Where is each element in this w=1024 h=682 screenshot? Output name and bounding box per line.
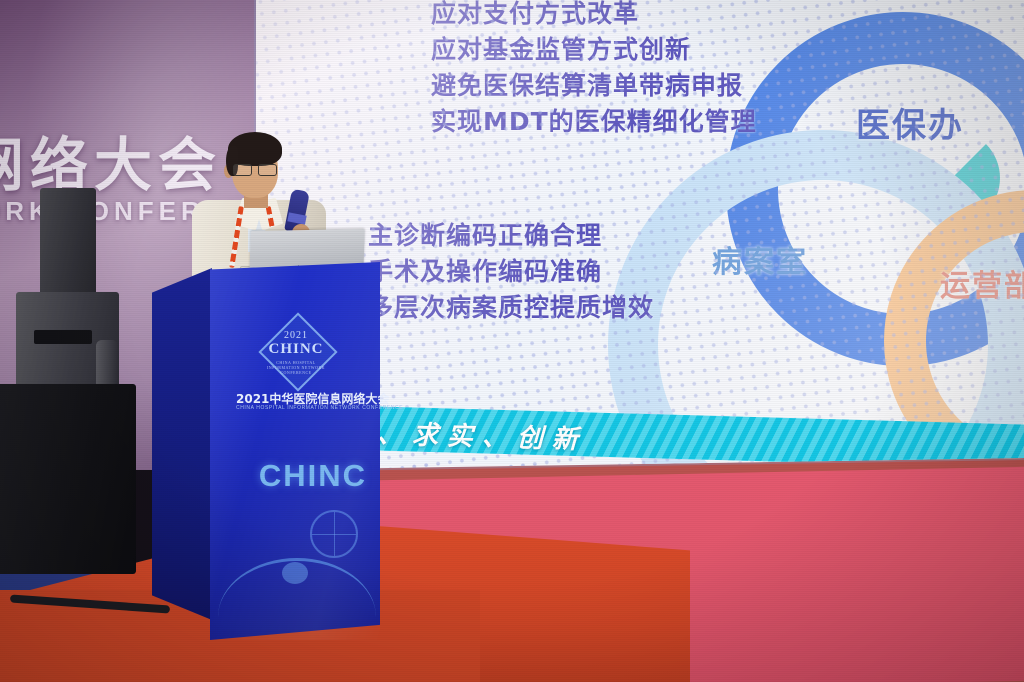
slide-line: 手术及操作编码准确 [368,254,654,290]
slide-text-block-a: 应对支付方式改革 应对基金监管方式创新 避免医保结算清单带病申报 实现MDT的医… [431,0,757,140]
conference-stage-photo: 网络大会 ORK CONFERENCE 医保办 病案室 运营部 应对支付方式改革… [0,0,1024,682]
ring-label-medical-insurance: 医保办 [856,98,964,147]
pa-speaker-top [40,188,96,296]
logo-mark: CHINC [260,341,332,358]
slide-line: 主诊断编码正确合理 [368,218,654,254]
slide-line: 应对支付方式改革 [431,0,757,32]
ring-label-medical-records: 病案室 [712,237,808,281]
presenter-glasses [232,164,278,174]
slide-line: 应对基金监管方式创新 [431,32,757,68]
slide-line: 避免医保结算清单带病申报 [431,68,757,104]
globe-icon [310,510,358,558]
speaking-podium: 2021 CHINC CHINA HOSPITAL INFORMATION NE… [152,262,380,650]
slide-line: 多层次病案质控提质增效 [368,290,654,326]
slide-text-block-b: 主诊断编码正确合理 手术及操作编码准确 多层次病案质控提质增效 [368,218,654,326]
podium-dot-graphic [282,562,308,584]
logo-sub: CHINA HOSPITAL INFORMATION NETWORK CONFE… [260,360,332,375]
podium-side-panel [152,268,212,620]
slide-line: 实现MDT的医保精细化管理 [431,104,757,140]
podium-title-en: CHINA HOSPITAL INFORMATION NETWORK CONFE… [236,405,386,411]
pa-speaker-subwoofer [0,384,136,574]
logo-year: 2021 [260,330,332,341]
ring-label-operations: 运营部 [940,261,1024,305]
podium-big-mark: CHINC [246,458,380,494]
chinc-diamond-logo-text: 2021 CHINC CHINA HOSPITAL INFORMATION NE… [260,330,332,375]
